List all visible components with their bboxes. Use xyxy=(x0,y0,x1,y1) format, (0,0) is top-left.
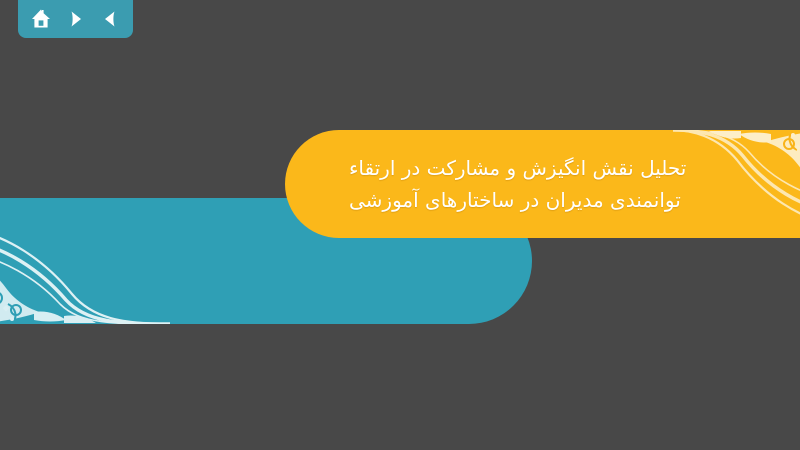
title-banner: تحلیل نقش انگیزش و مشارکت در ارتقاء توان… xyxy=(285,130,800,238)
home-icon xyxy=(30,8,52,30)
slide-title: تحلیل نقش انگیزش و مشارکت در ارتقاء توان… xyxy=(349,130,649,238)
arabesque-corner-ornament xyxy=(673,130,800,238)
arabesque-corner-ornament xyxy=(0,198,170,324)
title-line-2: توانمندی مدیران در ساختارهای آموزشی xyxy=(349,185,681,215)
home-button[interactable] xyxy=(29,7,53,31)
left-triangle-icon xyxy=(100,9,120,29)
slide-navigation-bar xyxy=(18,0,133,38)
right-triangle-icon xyxy=(66,9,86,29)
slide-canvas: تحلیل نقش انگیزش و مشارکت در ارتقاء توان… xyxy=(0,0,800,450)
title-line-1: تحلیل نقش انگیزش و مشارکت در ارتقاء xyxy=(349,153,686,183)
previous-slide-button[interactable] xyxy=(98,7,122,31)
next-slide-button[interactable] xyxy=(64,7,88,31)
